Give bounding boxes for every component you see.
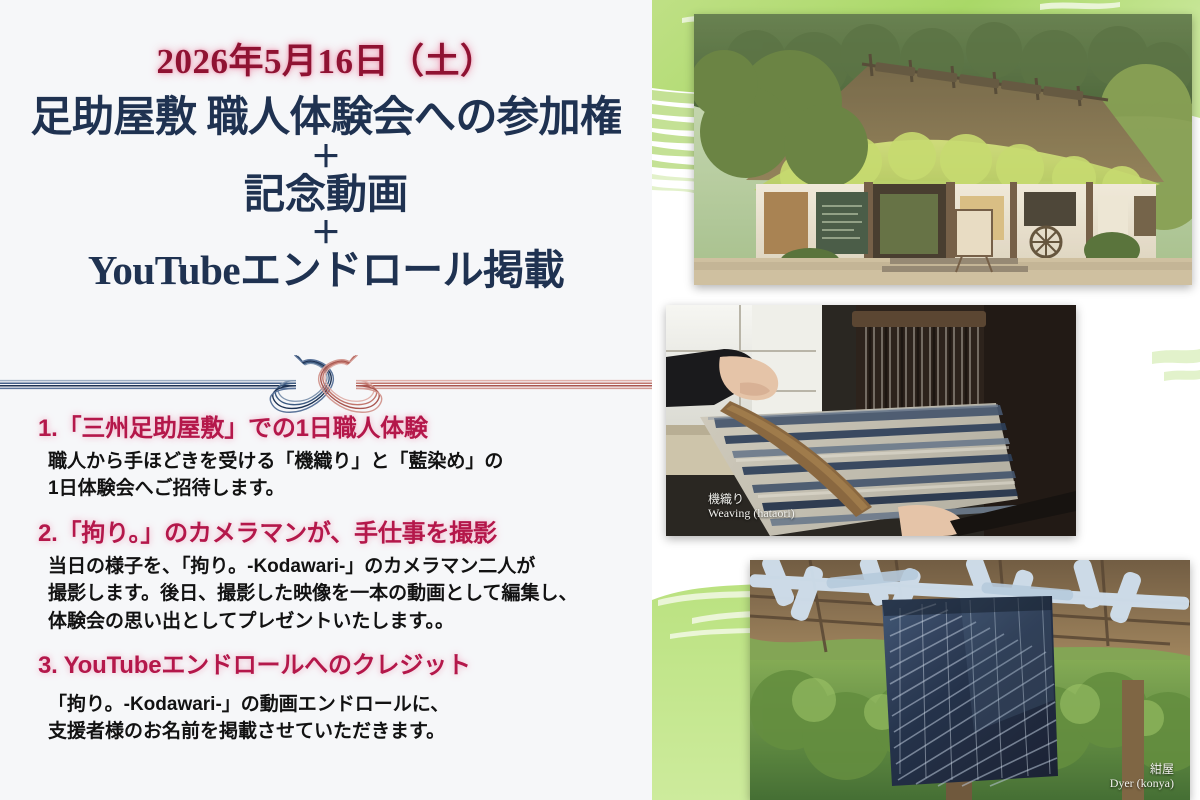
- photo-asuke-yashiki-exterior: [694, 14, 1192, 285]
- body-line: 1日体験会へご招待します。: [48, 475, 652, 502]
- list-item-heading: 3. YouTubeエンドロールへのクレジット: [0, 649, 652, 682]
- title-plus-1: ＋: [0, 143, 652, 173]
- body-line: 当日の様子を、「拘り。-Kodawari-」のカメラマン二人が: [48, 553, 652, 580]
- title-line-1: 足助屋敷 職人体験会への参加権: [0, 96, 652, 141]
- list-item-heading: 1.「三州足助屋敷」での1日職人体験: [0, 412, 652, 445]
- list-item: 1.「三州足助屋敷」での1日職人体験 職人から手ほどきを受ける「機織り」と「藍染…: [0, 412, 652, 503]
- list-item-heading: 2.「拘り。」のカメラマンが、手仕事を撮影: [0, 517, 652, 550]
- mizuhiki-divider: [0, 355, 652, 413]
- list-item: 2.「拘り。」のカメラマンが、手仕事を撮影 当日の様子を、「拘り。-Kodawa…: [0, 517, 652, 635]
- mizuhiki-knot-icon: [0, 355, 652, 413]
- title-line-3: YouTubeエンドロール掲載: [0, 249, 652, 293]
- list-item-body: 当日の様子を、「拘り。-Kodawari-」のカメラマン二人が 撮影します。後日…: [0, 553, 652, 635]
- body-line: 体験会の思い出としてプレゼントいたします。。: [48, 608, 652, 635]
- body-line: 支援者様のお名前を掲載させていただきます。: [48, 718, 652, 745]
- list-item-body: 職人から手ほどきを受ける「機織り」と「藍染め」の 1日体験会へご招待します。: [0, 448, 652, 503]
- body-line: 「拘り。-Kodawari-」の動画エンドロールに、: [48, 691, 652, 718]
- mizuhiki-left-cord: [0, 381, 296, 389]
- body-line: 撮影します。後日、撮影した映像を一本の動画として編集し、: [48, 580, 652, 607]
- list-item-body: 「拘り。-Kodawari-」の動画エンドロールに、 支援者様のお名前を掲載させ…: [0, 691, 652, 746]
- event-date: 2026年5月16日（土）: [0, 33, 652, 84]
- poster-root: 2026年5月16日（土） 足助屋敷 職人体験会への参加権 ＋ 記念動画 ＋ Y…: [0, 0, 1200, 800]
- mizuhiki-right-cord: [356, 381, 652, 389]
- left-content-panel: 2026年5月16日（土） 足助屋敷 職人体験会への参加権 ＋ 記念動画 ＋ Y…: [0, 0, 652, 800]
- right-photo-panel: 機織り Weaving (hataori): [652, 0, 1200, 800]
- title-plus-2: ＋: [0, 219, 652, 249]
- body-line: 職人から手ほどきを受ける「機織り」と「藍染め」の: [48, 448, 652, 475]
- page-title: 足助屋敷 職人体験会への参加権 ＋ 記念動画 ＋ YouTubeエンドロール掲載: [0, 96, 652, 293]
- reward-list: 1.「三州足助屋敷」での1日職人体験 職人から手ほどきを受ける「機織り」と「藍染…: [0, 412, 652, 750]
- list-item: 3. YouTubeエンドロールへのクレジット 「拘り。-Kodawari-」の…: [0, 649, 652, 746]
- photo-indigo-dyed-cloth: 紺屋 Dyer (konya): [750, 560, 1190, 800]
- photo-weaving-loom: 機織り Weaving (hataori): [666, 305, 1076, 536]
- title-line-2: 記念動画: [0, 173, 652, 217]
